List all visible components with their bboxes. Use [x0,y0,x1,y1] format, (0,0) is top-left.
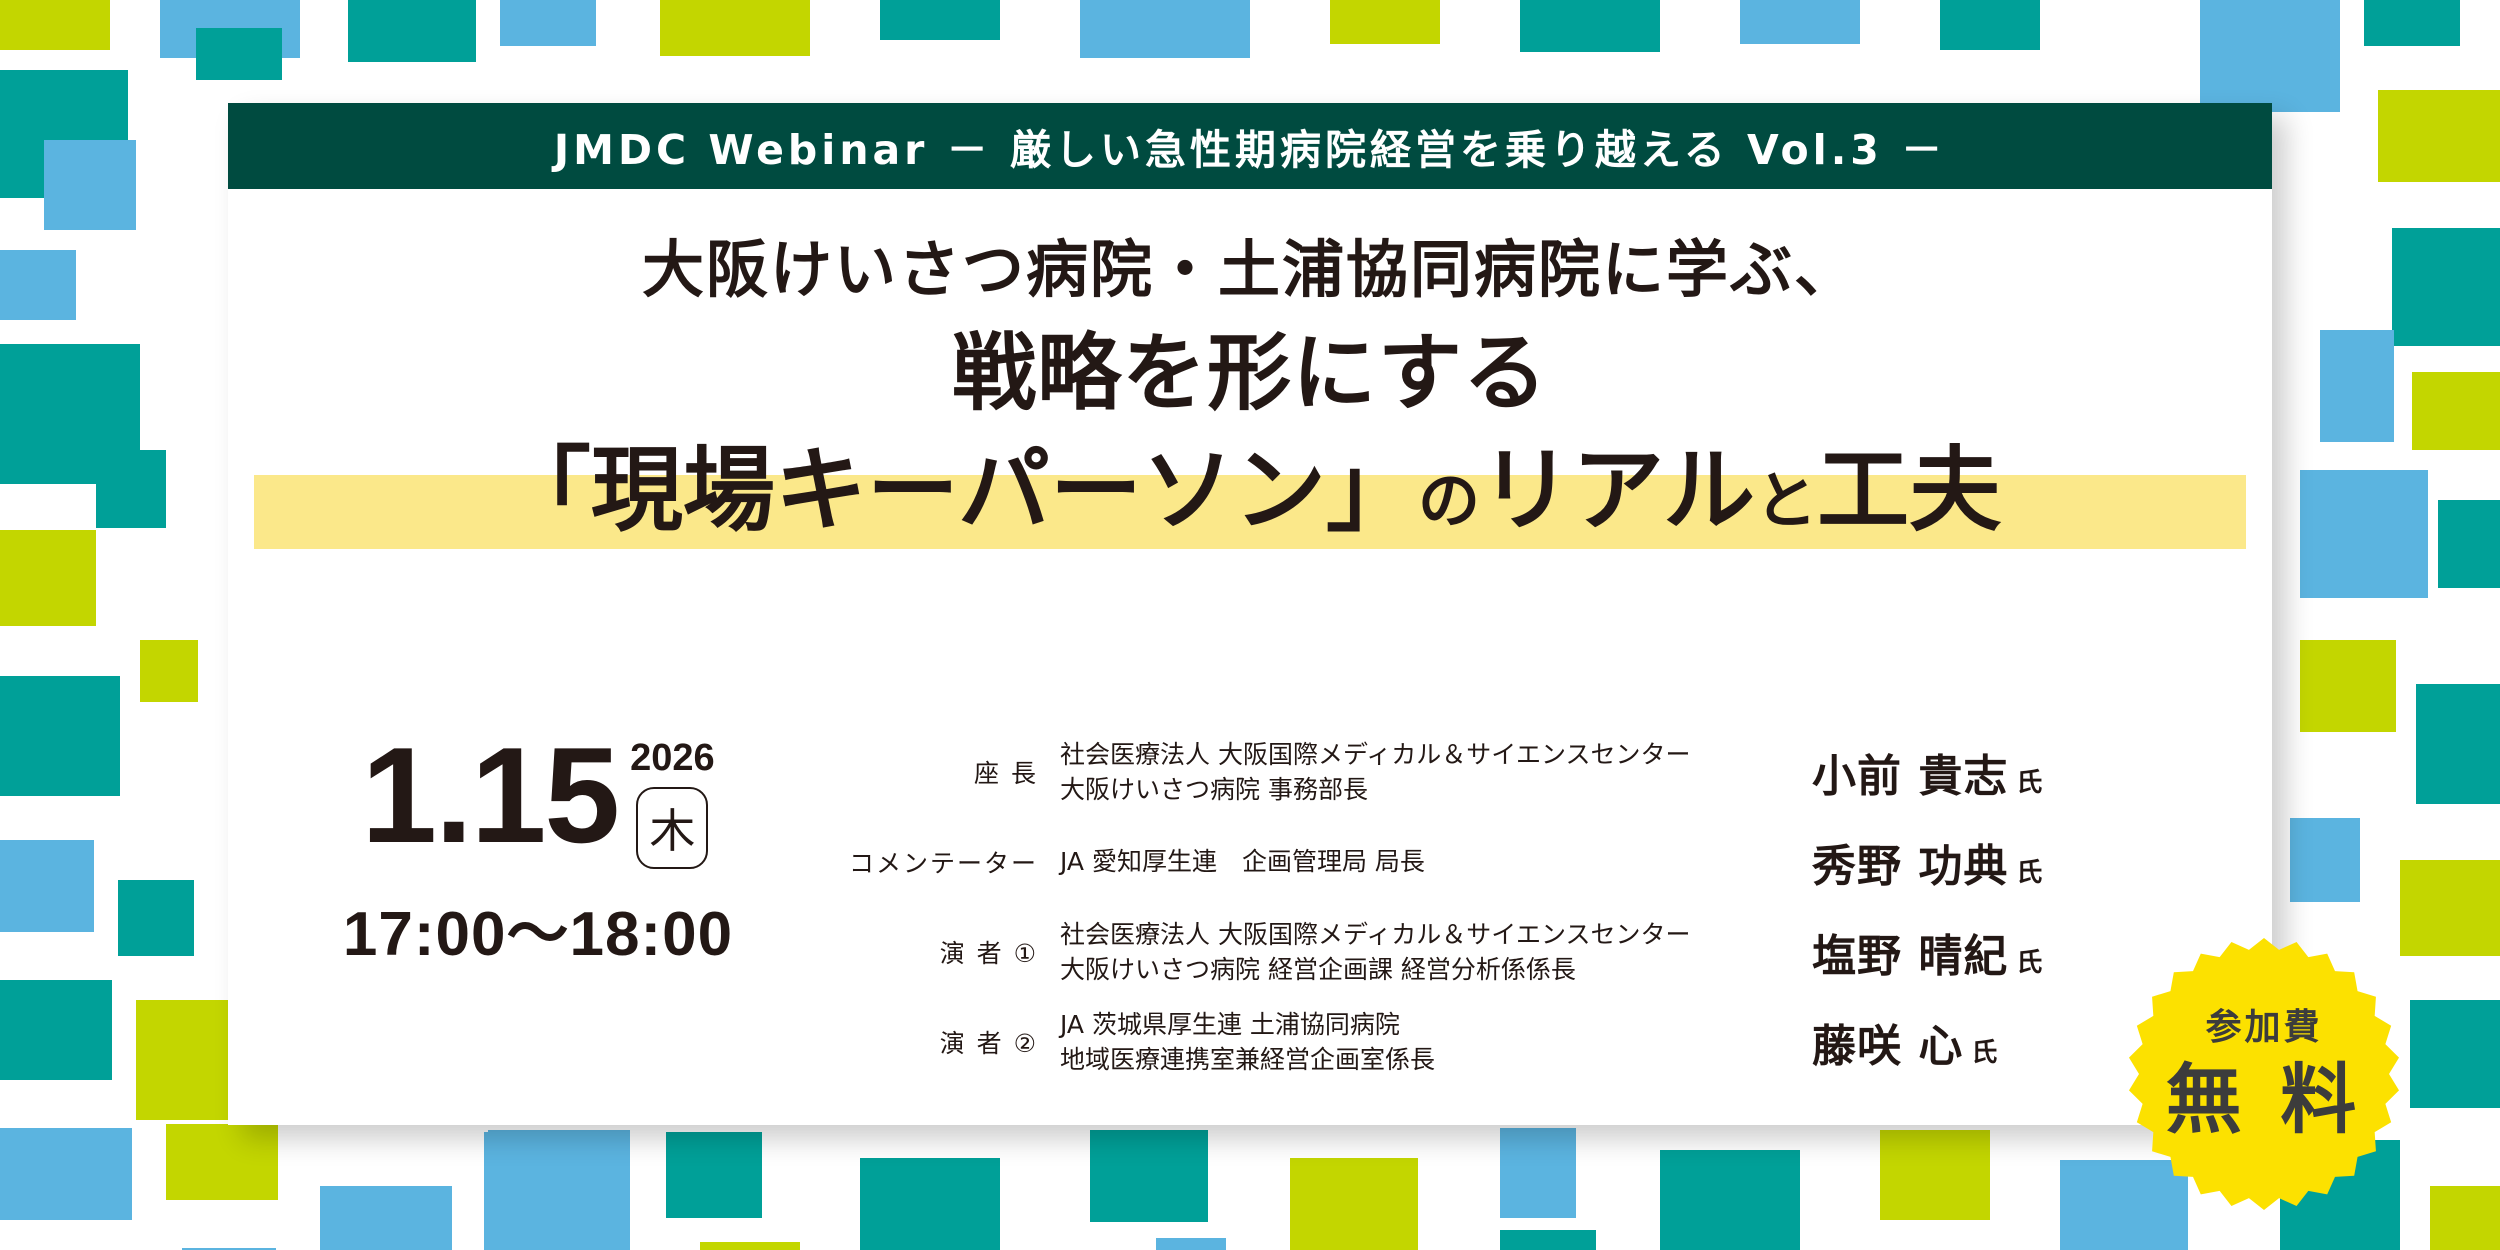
mosaic-tile [880,0,1000,40]
title-line-3-wrapper: 「現場キーパーソン」のリアルと工夫 [228,437,2272,547]
mosaic-tile [2290,818,2360,902]
mosaic-tile [0,840,94,932]
mosaic-tile [96,450,166,528]
speaker-affiliation-line1: 社会医療法人 大阪国際メディカル＆サイエンスセンター [1060,737,1812,773]
mosaic-tile [2438,500,2500,588]
speaker-name-suffix: 氏 [2016,948,2043,978]
mosaic-tile [2400,860,2500,956]
speaker-affiliation-line1: JA 茨城県厚生連 土浦協同病院 [1060,1007,1812,1043]
speaker-role: コメンテーター [848,844,1060,880]
mosaic-tile [44,140,136,230]
mosaic-tile [2412,372,2500,450]
title-line-3-part-a: 「現場キーパーソン」 [499,437,1418,544]
title-line-3-part-b: の [1418,464,1480,537]
mosaic-tile [118,880,194,956]
title-line-2: 戦略を形にする [228,331,2272,415]
speaker-row: コメンテーター JA 愛知厚生連 企画管理局 局長 秀野 功典氏 [848,817,2122,907]
event-card: JMDC Webinar － 厳しい急性期病院経営を乗り越える Vol.3 － … [228,103,2272,1125]
speaker-name-text: 藤咲 心 [1812,1021,1963,1072]
mosaic-tile [2378,90,2500,182]
mosaic-tile [196,28,282,80]
mosaic-tile [0,676,120,796]
speaker-affiliation: JA 茨城県厚生連 土浦協同病院 地域医療連携室兼経営企画室係長 [1060,1007,1812,1078]
header-title: JMDC Webinar － 厳しい急性期病院経営を乗り越える Vol.3 － [554,116,1946,176]
header-bar: JMDC Webinar － 厳しい急性期病院経営を乗り越える Vol.3 － [228,103,2272,189]
speaker-row: 演 者 ② JA 茨城県厚生連 土浦協同病院 地域医療連携室兼経営企画室係長 藤… [848,997,2122,1087]
mosaic-tile [140,640,198,702]
speaker-name: 秀野 功典氏 [1812,830,2122,894]
title-line-3: 「現場キーパーソン」のリアルと工夫 [228,437,2272,537]
mosaic-tile [2364,0,2460,46]
mosaic-tile [2300,470,2428,598]
speaker-name-suffix: 氏 [2016,858,2043,888]
mosaic-tile [1880,1130,1990,1220]
speaker-name-suffix: 氏 [1971,1038,1998,1068]
speaker-row: 座 長 社会医療法人 大阪国際メディカル＆サイエンスセンター 大阪けいさつ病院 … [848,727,2122,817]
free-badge: 参加費 無 料 [2128,938,2400,1210]
title-line-3-part-d: と [1755,464,1817,537]
mosaic-tile [1520,0,1660,52]
mosaic-tile [700,1242,800,1250]
title-line-3-part-e: 工夫 [1817,437,2001,544]
mosaic-tile [1156,1238,1226,1250]
mosaic-tile [1660,1150,1800,1250]
mosaic-tile [0,1128,132,1220]
speaker-name-suffix: 氏 [2016,768,2043,798]
speaker-affiliation-line2: 大阪けいさつ病院 事務部長 [1060,772,1812,808]
mosaic-tile [2200,0,2340,112]
mosaic-tile [500,0,596,46]
mosaic-tile [166,1124,278,1200]
event-time: 17:00～18:00 [228,883,848,973]
details-area: 1.15 2026 木 17:00～18:00 座 長 社会医療法人 大阪国際メ… [228,713,2272,1125]
speaker-name: 藤咲 心氏 [1812,1010,2122,1074]
mosaic-tile [2320,330,2394,442]
mosaic-tile [2300,640,2396,732]
mosaic-tile [0,980,112,1080]
mosaic-tile [2430,1186,2500,1250]
mosaic-tile [484,1132,624,1250]
mosaic-tile [1330,0,1440,44]
mosaic-tile [860,1158,1000,1250]
mosaic-tile [1080,0,1250,58]
badge-main-label: 無 料 [2166,1062,2362,1138]
mosaic-tile [1940,0,2040,50]
title-line-1: 大阪けいさつ病院・土浦協同病院に学ぶ、 [228,239,2272,301]
title-block: 大阪けいさつ病院・土浦協同病院に学ぶ、 戦略を形にする 「現場キーパーソン」のリ… [228,189,2272,547]
speaker-name-text: 秀野 功典 [1812,841,2008,892]
badge-top-label: 参加費 [2205,1010,2322,1046]
speaker-affiliation-line2: 地域医療連携室兼経営企画室係長 [1060,1042,1812,1078]
mosaic-tile [1290,1158,1418,1250]
speaker-list: 座 長 社会医療法人 大阪国際メディカル＆サイエンスセンター 大阪けいさつ病院 … [848,713,2272,1125]
date-side: 2026 木 [630,731,715,869]
mosaic-tile [1740,0,1860,44]
speaker-affiliation-line1: JA 愛知厚生連 企画管理局 局長 [1060,844,1812,880]
mosaic-tile [666,1132,762,1218]
date-block: 1.15 2026 木 17:00～18:00 [228,713,848,1125]
speaker-role: 座 長 [848,754,1060,790]
speaker-name-text: 小前 貴志 [1812,751,2008,802]
title-line-3-part-c: リアル [1480,437,1755,544]
badge-text: 参加費 無 料 [2128,938,2400,1210]
speaker-affiliation-line2: 大阪けいさつ病院 経営企画課 経営分析係係長 [1060,952,1812,988]
mosaic-tile [348,0,476,62]
speaker-affiliation: JA 愛知厚生連 企画管理局 局長 [1060,844,1812,880]
date-weekday-badge: 木 [636,787,708,869]
speaker-affiliation-line1: 社会医療法人 大阪国際メディカル＆サイエンスセンター [1060,917,1812,953]
speaker-affiliation: 社会医療法人 大阪国際メディカル＆サイエンスセンター 大阪けいさつ病院 事務部長 [1060,737,1812,808]
speaker-name: 塩野 晴紀氏 [1812,920,2122,984]
mosaic-tile [1090,1130,1208,1222]
mosaic-tile [2392,228,2500,346]
speaker-name-text: 塩野 晴紀 [1812,931,2008,982]
date-year: 2026 [630,739,715,777]
mosaic-tile [0,0,110,50]
speaker-row: 演 者 ① 社会医療法人 大阪国際メディカル＆サイエンスセンター 大阪けいさつ病… [848,907,2122,997]
date-day: 1.15 [361,731,618,860]
banner-root: JMDC Webinar － 厳しい急性期病院経営を乗り越える Vol.3 － … [0,0,2500,1250]
speaker-role: 演 者 ① [848,934,1060,970]
speaker-name: 小前 貴志氏 [1812,740,2122,804]
mosaic-tile [2416,684,2500,804]
mosaic-tile [0,530,96,626]
speaker-role: 演 者 ② [848,1024,1060,1060]
date-main: 1.15 2026 木 [228,731,848,869]
speaker-affiliation: 社会医療法人 大阪国際メディカル＆サイエンスセンター 大阪けいさつ病院 経営企画… [1060,917,1812,988]
mosaic-tile [1500,1128,1576,1218]
mosaic-tile [1500,1230,1596,1250]
mosaic-tile [2410,1000,2500,1108]
mosaic-tile [0,250,76,320]
mosaic-tile [660,0,810,56]
mosaic-tile [320,1186,452,1250]
